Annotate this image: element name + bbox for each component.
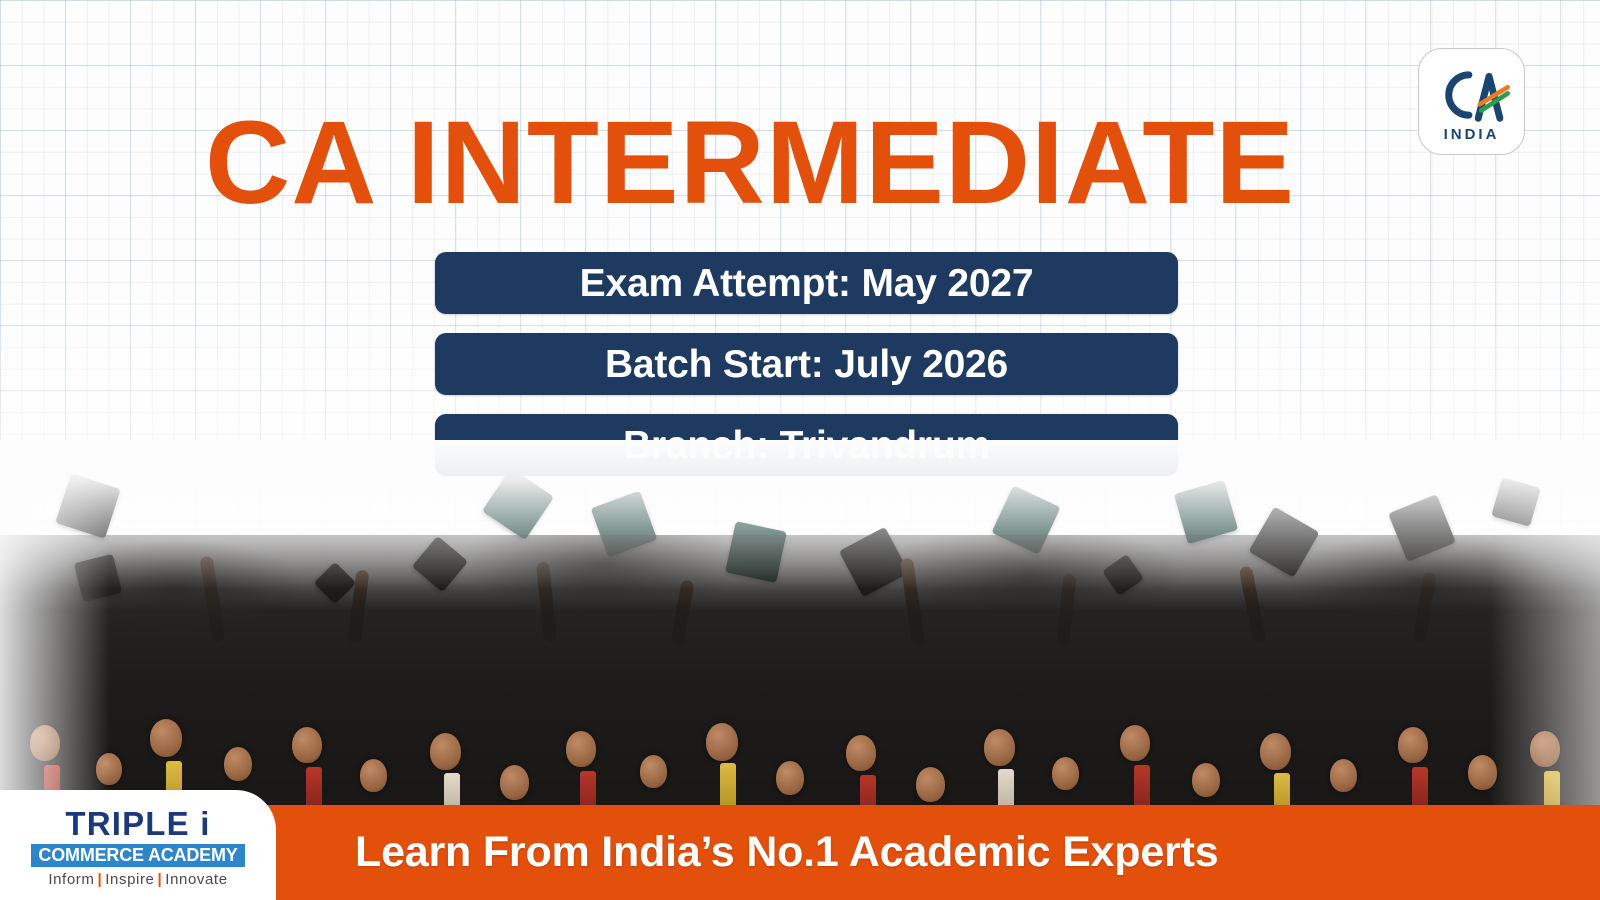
- info-pill-label: Batch Start: July 2026: [605, 345, 1008, 384]
- academy-logo-name-i: i: [200, 805, 210, 842]
- promotional-banner: INDIA CA INTERMEDIATE Exam Attempt: May …: [0, 0, 1600, 900]
- academy-logo-card: TRIPLE i COMMERCE ACADEMY Inform|Inspire…: [0, 790, 276, 900]
- academy-logo-tagline: Inform|Inspire|Innovate: [48, 872, 227, 887]
- crowd-illustration: [0, 440, 1600, 825]
- page-title: CA INTERMEDIATE: [205, 104, 1400, 222]
- bottom-tagline-text: Learn From India’s No.1 Academic Experts: [355, 805, 1218, 900]
- ca-monogram-icon: [1433, 64, 1511, 126]
- tagline-separator: |: [155, 871, 166, 888]
- academy-logo-name-main: TRIPLE: [65, 805, 190, 842]
- graduation-cap-icon: [1491, 477, 1540, 526]
- academy-logo-name: TRIPLE i: [65, 807, 210, 840]
- tagline-word-inspire: Inspire: [105, 871, 154, 888]
- info-pill-exam-attempt: Exam Attempt: May 2027: [435, 252, 1178, 314]
- tagline-word-inform: Inform: [48, 871, 94, 888]
- ca-india-logo-subtitle: INDIA: [1444, 127, 1500, 142]
- tagline-word-innovate: Innovate: [165, 871, 227, 888]
- ca-india-logo-card: INDIA: [1418, 48, 1525, 155]
- graduation-cap-icon: [482, 468, 554, 540]
- info-pill-batch-start: Batch Start: July 2026: [435, 333, 1178, 395]
- graduation-cap-icon: [55, 473, 121, 539]
- info-pill-label: Exam Attempt: May 2027: [580, 264, 1034, 303]
- tagline-separator: |: [94, 871, 105, 888]
- graduation-crowd-photo: [0, 440, 1600, 825]
- academy-logo-subtitle: COMMERCE ACADEMY: [31, 844, 244, 867]
